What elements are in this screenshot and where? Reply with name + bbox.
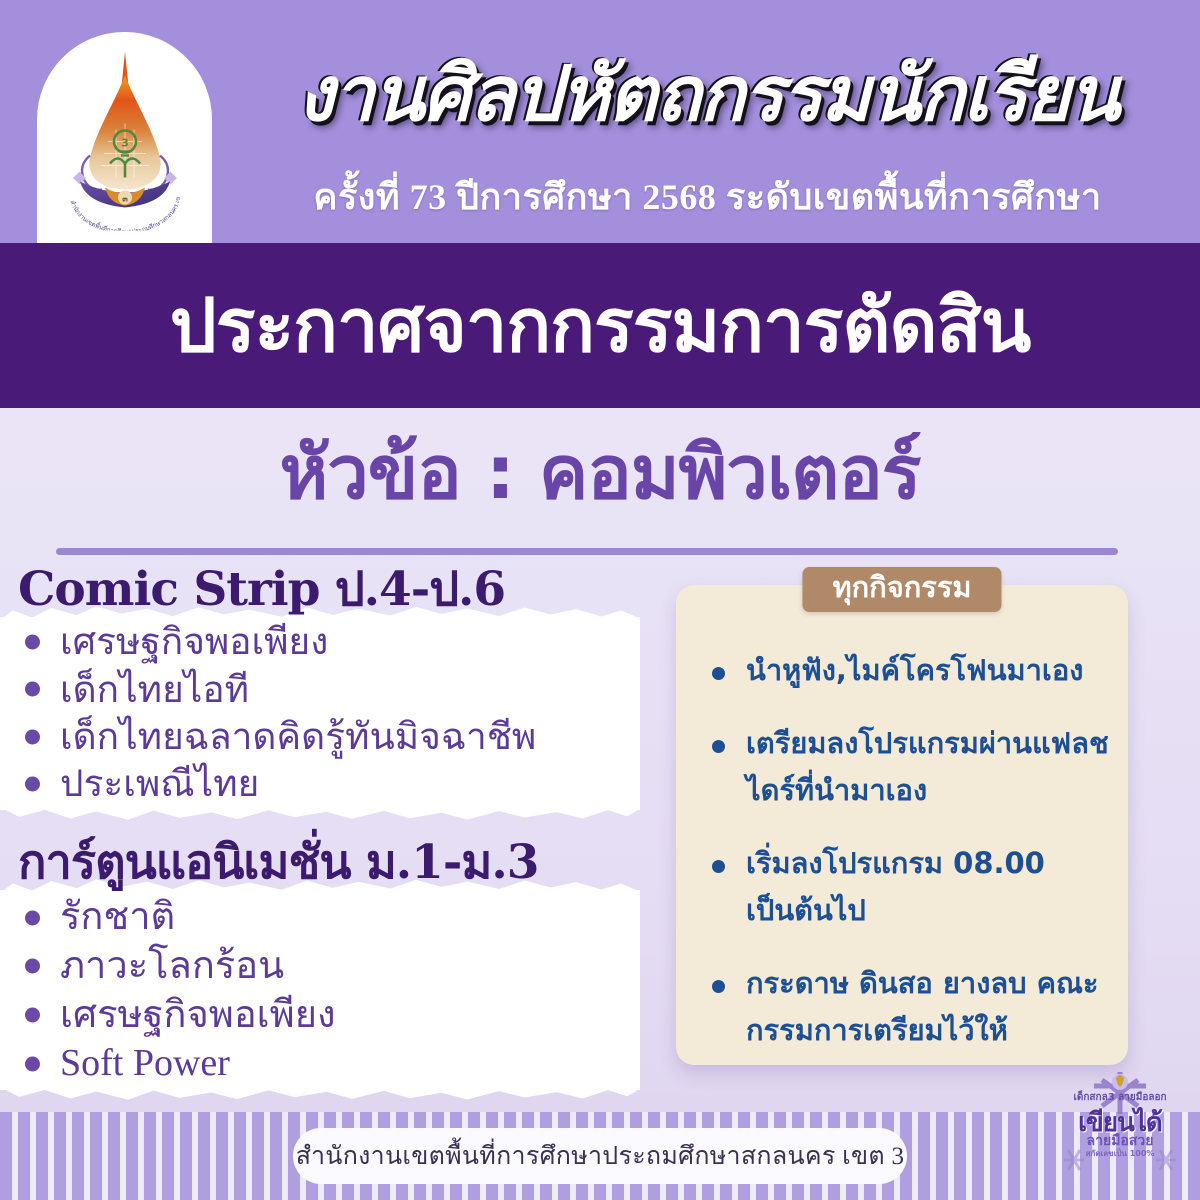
list-item: เริ่มลงโปรแกรม 08.00 เป็นต้นไป — [704, 840, 1110, 934]
list-item-label: กระดาษ ดินสอ ยางลบ คณะกรรมการเตรียมไว้ให… — [746, 966, 1099, 1047]
list-item-label: นำหูฟัง,ไมค์โครโฟนมาเอง — [746, 653, 1083, 687]
list-item: กระดาษ ดินสอ ยางลบ คณะกรรมการเตรียมไว้ให… — [704, 960, 1110, 1054]
bullet-dot — [712, 980, 725, 993]
list-item: เศรษฐกิจพอเพียง — [60, 991, 660, 1040]
bullet-dot — [25, 777, 40, 792]
bullet-dot — [25, 959, 40, 974]
list-item: เด็กไทยฉลาดคิดรู้ทันมิจฉาชีพ — [60, 713, 660, 760]
svg-text:๓: ๓ — [122, 194, 128, 203]
list-item: ภาวะโลกร้อน — [60, 942, 660, 991]
list-item-label: เด็กไทยฉลาดคิดรู้ทันมิจฉาชีพ — [60, 715, 536, 758]
logo-plate: 3 ๓ สำนักงานเขตพื้นที่การศึกษาประถมศึกษา… — [37, 32, 212, 243]
bullet-dot — [25, 729, 40, 744]
footer-pill: สำนักงานเขตพื้นที่การศึกษาประถมศึกษาสกลน… — [293, 1128, 907, 1184]
bullet-dot — [25, 635, 40, 650]
category-heading: การ์ตูนแอนิเมชั่น ม.1-ม.3 — [0, 838, 660, 887]
poster-root: 3 ๓ สำนักงานเขตพื้นที่การศึกษาประถมศึกษา… — [0, 0, 1200, 1200]
list-item: ประเพณีไทย — [60, 760, 660, 807]
category-section-comic-strip: Comic Strip ป.4-ป.6 เศรษฐกิจพอเพียง เด็ก… — [0, 565, 660, 808]
event-title: งานศิลปหัตถกรรมนักเรียน — [215, 56, 1200, 132]
bullet-dot — [712, 860, 725, 873]
svg-text:3: 3 — [121, 136, 129, 149]
requirements-list: นำหูฟัง,ไมค์โครโฟนมาเอง เตรียมลงโปรแกรมผ… — [704, 647, 1110, 1080]
category-topic-list: เศรษฐกิจพอเพียง เด็กไทยไอที เด็กไทยฉลาดค… — [0, 618, 660, 807]
bullet-dot — [712, 740, 725, 753]
bullet-dot — [25, 910, 40, 925]
footer-office-name: สำนักงานเขตพื้นที่การศึกษาประถมศึกษาสกลน… — [296, 1136, 905, 1176]
list-item-label: รักชาติ — [60, 896, 175, 938]
watermark-line-1: เด็กสกล3 ลายมือลอก — [1046, 1090, 1194, 1105]
bullet-dot — [25, 1007, 40, 1022]
requirements-card-wrapper: ทุกกิจกรรม นำหูฟัง,ไมค์โครโฟนมาเอง เตรีย… — [676, 585, 1128, 1065]
category-heading: Comic Strip ป.4-ป.6 — [0, 565, 660, 614]
list-item-label: ภาวะโลกร้อน — [60, 945, 284, 987]
poster-footer: สำนักงานเขตพื้นที่การศึกษาประถมศึกษาสกลน… — [0, 1112, 1200, 1200]
header-title-group: งานศิลปหัตถกรรมนักเรียน ครั้งที่ 73 ปีกา… — [215, 0, 1200, 243]
list-item: เศรษฐกิจพอเพียง — [60, 618, 660, 665]
list-item-label: เด็กไทยไอที — [60, 668, 249, 711]
poster-header: 3 ๓ สำนักงานเขตพื้นที่การศึกษาประถมศึกษา… — [0, 0, 1200, 243]
list-item-label: เตรียมลงโปรแกรมผ่านแฟลชไดร์ที่นำมาเอง — [746, 726, 1109, 807]
categories-column: Comic Strip ป.4-ป.6 เศรษฐกิจพอเพียง เด็ก… — [0, 565, 660, 1100]
sp-education-emblem-icon: 3 ๓ สำนักงานเขตพื้นที่การศึกษาประถมศึกษา… — [50, 45, 200, 230]
topic-text: หัวข้อ : คอมพิวเตอร์ — [279, 436, 920, 510]
category-section-animation: การ์ตูนแอนิเมชั่น ม.1-ม.3 รักชาติ ภาวะโล… — [0, 838, 660, 1088]
list-item-label: เศรษฐกิจพอเพียง — [60, 994, 336, 1036]
bullet-dot — [25, 1056, 40, 1071]
list-item-label: Soft Power — [60, 1042, 230, 1084]
list-item: เตรียมลงโปรแกรมผ่านแฟลชไดร์ที่นำมาเอง — [704, 720, 1110, 814]
list-item-label: เศรษฐกิจพอเพียง — [60, 620, 328, 663]
bullet-dot — [712, 667, 725, 680]
category-topic-list: รักชาติ ภาวะโลกร้อน เศรษฐกิจพอเพียง Soft… — [0, 893, 660, 1088]
bullet-dot — [25, 682, 40, 697]
announcement-banner-text: ประกาศจากกรรมการตัดสิน — [170, 289, 1031, 363]
requirements-card-badge: ทุกกิจกรรม — [802, 567, 1001, 612]
topic-row: หัวข้อ : คอมพิวเตอร์ — [0, 408, 1200, 538]
announcement-banner: ประกาศจากกรรมการตัดสิน — [0, 243, 1200, 408]
topic-divider — [56, 548, 1118, 555]
list-item: รักชาติ — [60, 893, 660, 942]
list-item-label: ประเพณีไทย — [60, 762, 259, 805]
list-item-label: เริ่มลงโปรแกรม 08.00 เป็นต้นไป — [746, 846, 1045, 927]
event-subtitle: ครั้งที่ 73 ปีการศึกษา 2568 ระดับเขตพื้น… — [215, 168, 1200, 225]
list-item: Soft Power — [60, 1039, 660, 1088]
list-item: นำหูฟัง,ไมค์โครโฟนมาเอง — [704, 647, 1110, 694]
list-item: เด็กไทยไอที — [60, 666, 660, 713]
